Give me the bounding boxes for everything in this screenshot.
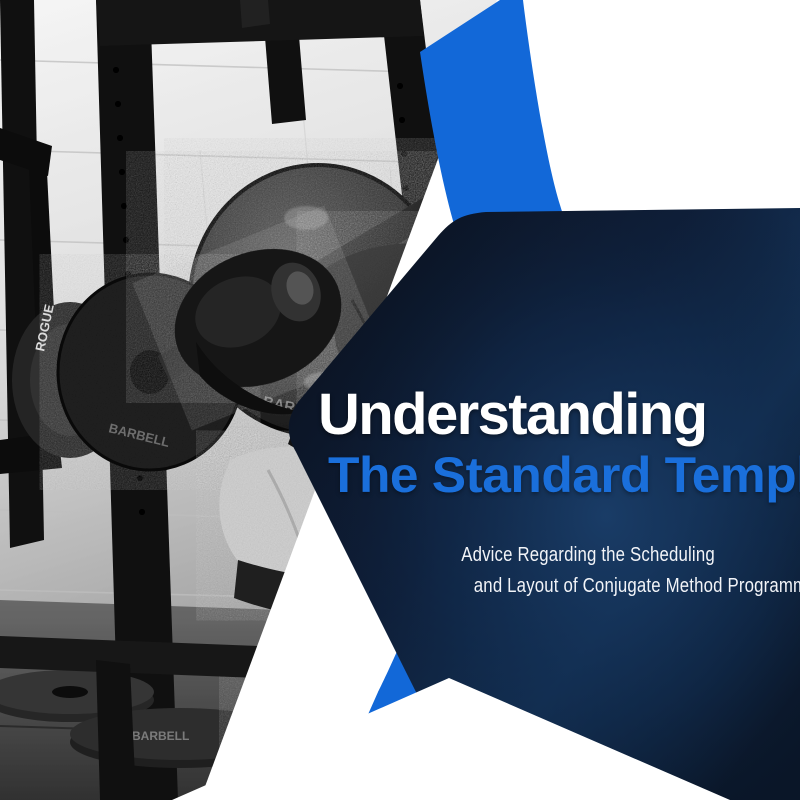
page-title: Understanding [318, 386, 790, 444]
title-group: Understanding The Standard Template Advi… [310, 386, 790, 602]
page-subtitle-accent: The Standard Template [328, 450, 800, 500]
tagline-line-1: Advice Regarding the Scheduling [461, 540, 713, 571]
tagline-line-2: and Layout of Conjugate Method Programmi… [474, 571, 713, 602]
poster-canvas: ROGUE BARBELL BARBELL [0, 0, 800, 800]
tagline-group: Advice Regarding the Scheduling and Layo… [310, 540, 713, 602]
